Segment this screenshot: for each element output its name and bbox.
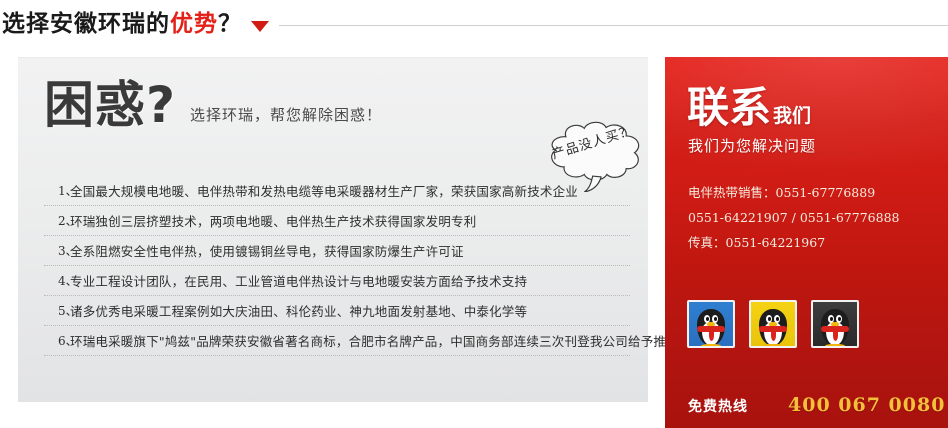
list-item: 2、 环瑞独创三层挤塑技术，两项电地暖、电伴热生产技术获得国家发明专利 [44,206,630,236]
list-item-number: 4、 [44,272,70,289]
contact-subheading: 我们为您解决问题 [688,135,816,156]
hotline-label: 免费热线 [688,396,748,416]
qq-icon-dark[interactable] [811,300,859,348]
list-item-text: 环瑞独创三层挤塑技术，两项电地暖、电伴热生产技术获得国家发明专利 [70,211,476,230]
list-item-text: 环瑞电采暖旗下"鸠兹"品牌荣获安徽省著名商标，合肥市名牌产品，中国商务部连续三次… [70,331,679,350]
list-item-text: 专业工程设计团队，在民用、工业管道电伴热设计与电地暖安装方面给予技术支持 [70,271,527,290]
qq-icon-yellow[interactable] [749,300,797,348]
contact-details: 电伴热带销售：0551-67776889 0551-64221907 / 055… [688,180,938,255]
penguin-glyph [756,307,790,348]
contact-line-fax: 传真：0551-64221967 [688,230,938,255]
list-item-text: 全国最大规模电地暖、电伴热带和发热电缆等电采暖器材生产厂家，荣获国家高新技术企业 [70,181,578,200]
list-item: 4、 专业工程设计团队，在民用、工业管道电伴热设计与电地暖安装方面给予技术支持 [44,266,630,296]
page-title-highlight: 优势 [170,11,218,37]
list-item-number: 3、 [44,242,70,259]
list-item: 3、 全系阻燃安全性电伴热，使用镀锡铜丝导电，获得国家防爆生产许可证 [44,236,630,266]
advantages-panel: 困惑? 选择环瑞，帮您解除困惑！ 产品没人买？ 1、 全国最大规模电地暖、电伴热… [18,57,648,402]
contact-panel: 联系 我们 我们为您解决问题 电伴热带销售：0551-67776889 0551… [665,57,948,428]
list-item-text: 诸多优秀电采暖工程案例如大庆油田、科伦药业、神九地面发射基地、中泰化学等 [70,301,527,320]
page-title: 选择安徽环瑞的优势？ [0,13,242,36]
list-item: 6、 环瑞电采暖旗下"鸠兹"品牌荣获安徽省著名商标，合肥市名牌产品，中国商务部连… [44,326,630,356]
contact-heading: 联系 [687,87,771,129]
panel-heading: 困惑? [44,80,176,130]
qq-contact-row [687,300,859,348]
contact-line-sales: 电伴热带销售：0551-67776889 [688,180,938,205]
panel-subheading: 选择环瑞，帮您解除困惑！ [190,104,382,125]
page-title-suffix: ？ [218,11,242,37]
panel-heading-group: 困惑? 选择环瑞，帮您解除困惑！ [44,80,382,130]
hotline-row: 免费热线 400 067 0080 [665,394,948,416]
list-item: 1、 全国最大规模电地暖、电伴热带和发热电缆等电采暖器材生产厂家，荣获国家高新技… [44,176,630,206]
list-item-number: 1、 [44,182,70,199]
list-item-number: 5、 [44,302,70,319]
hotline-number: 400 067 0080 [788,394,945,416]
contact-heading-suffix: 我们 [773,101,811,128]
page-root: 选择安徽环瑞的优势？ 困惑? 选择环瑞，帮您解除困惑！ 产品没人买？ 1、 全国… [0,0,948,428]
caret-down-icon [251,21,269,32]
contact-line-phones: 0551-64221907 / 0551-67776888 [688,205,938,230]
section-header: 选择安徽环瑞的优势？ [0,8,948,40]
penguin-glyph [694,307,728,348]
list-item-number: 2、 [44,212,70,229]
list-item-number: 6、 [44,332,70,349]
advantages-list: 1、 全国最大规模电地暖、电伴热带和发热电缆等电采暖器材生产厂家，荣获国家高新技… [44,176,630,356]
header-divider [279,25,948,26]
list-item: 5、 诸多优秀电采暖工程案例如大庆油田、科伦药业、神九地面发射基地、中泰化学等 [44,296,630,326]
page-title-prefix: 选择安徽环瑞的 [2,11,170,37]
qq-icon-blue[interactable] [687,300,735,348]
list-item-text: 全系阻燃安全性电伴热，使用镀锡铜丝导电，获得国家防爆生产许可证 [70,241,464,260]
penguin-glyph [818,307,852,348]
contact-heading-group: 联系 我们 [687,87,811,129]
